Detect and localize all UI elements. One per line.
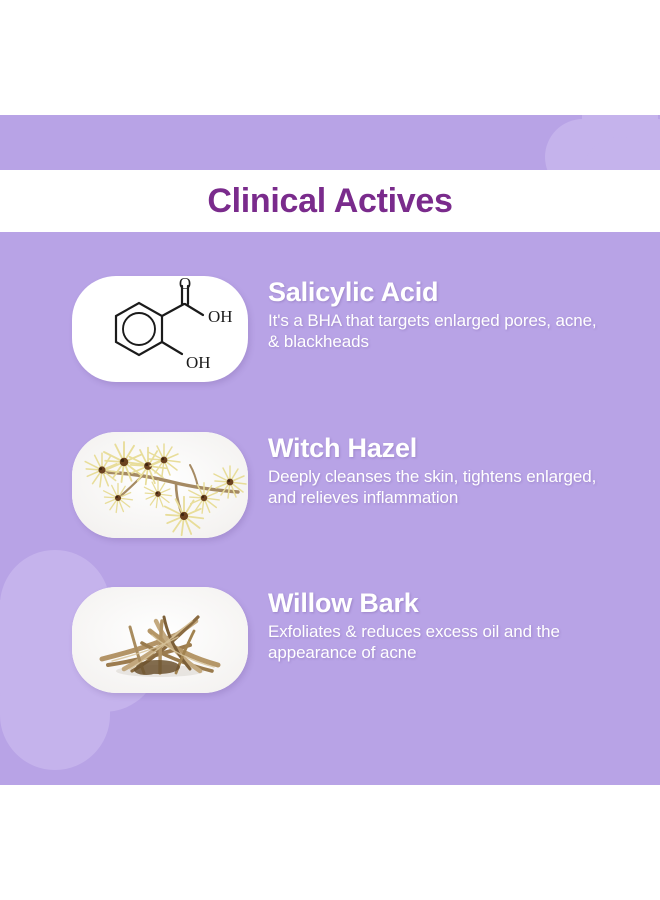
ingredient-name: Salicylic Acid — [268, 278, 608, 307]
ingredient-row: Willow Bark Exfoliates & reduces excess … — [0, 587, 660, 737]
ingredient-row: O OH OH Salicylic Acid It's a BHA that t… — [0, 276, 660, 426]
infographic-page: Clinical Actives — [0, 0, 660, 900]
ingredient-row: Witch Hazel Deeply cleanses the skin, ti… — [0, 432, 660, 582]
witch-hazel-photo — [72, 432, 248, 538]
willow-bark-photo — [72, 587, 248, 693]
ingredient-text: Willow Bark Exfoliates & reduces excess … — [268, 587, 660, 663]
ingredient-description: Deeply cleanses the skin, tightens enlar… — [268, 466, 608, 508]
title-band: Clinical Actives — [0, 170, 660, 232]
ingredient-name: Willow Bark — [268, 589, 608, 618]
label-ring-hydroxyl: OH — [186, 353, 211, 372]
label-carboxyl-hydroxyl: OH — [208, 307, 233, 326]
ingredient-description: Exfoliates & reduces excess oil and the … — [268, 621, 608, 663]
label-carbonyl-oxygen: O — [179, 276, 191, 293]
ingredient-text: Witch Hazel Deeply cleanses the skin, ti… — [268, 432, 660, 508]
ingredient-name: Witch Hazel — [268, 434, 608, 463]
ingredient-text: Salicylic Acid It's a BHA that targets e… — [268, 276, 660, 352]
ingredient-description: It's a BHA that targets enlarged pores, … — [268, 310, 608, 352]
page-title: Clinical Actives — [207, 182, 452, 221]
salicylic-acid-molecule-icon: O OH OH — [72, 276, 248, 382]
